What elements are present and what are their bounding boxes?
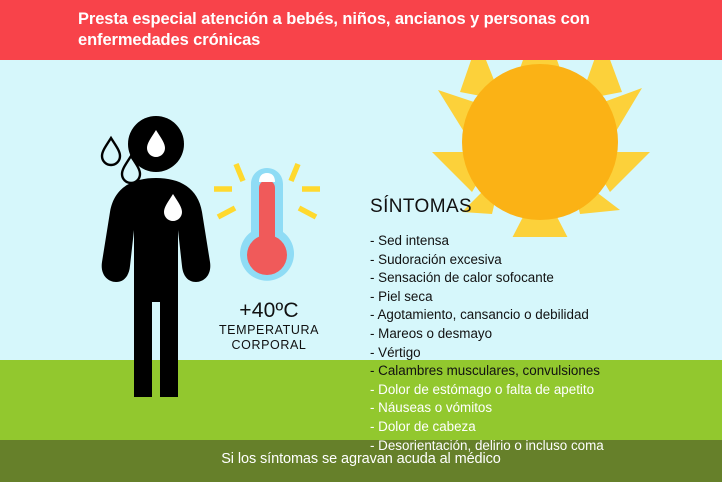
symptom-item: - Dolor de cabeza [370,418,690,437]
footer-message: Si los síntomas se agravan acuda al médi… [0,451,722,467]
symptom-item: - Calambres musculares, convulsiones [370,362,690,381]
temperature-caption-line2: CORPORAL [196,338,342,353]
sweating-person-icon [88,112,228,397]
symptoms-list: - Sed intensa- Sudoración excesiva- Sens… [370,232,690,455]
symptom-item: - Mareos o desmayo [370,325,690,344]
symptom-item: - Sudoración excesiva [370,251,690,270]
heat-stroke-infographic: +40ºC TEMPERATURA CORPORAL Presta especi… [0,0,722,482]
temperature-caption-line1: TEMPERATURA [196,323,342,338]
thermometer-icon [212,160,322,300]
symptoms-title: SÍNTOMAS [370,196,690,218]
symptom-item: - Dolor de estómago o falta de apetito [370,381,690,400]
symptom-item: - Náuseas o vómitos [370,399,690,418]
symptoms-section: SÍNTOMAS - Sed intensa- Sudoración exces… [370,196,690,455]
header-banner: Presta especial atención a bebés, niños,… [0,0,722,60]
symptom-item: - Vértigo [370,344,690,363]
symptom-item: - Piel seca [370,288,690,307]
symptom-item: - Sensación de calor sofocante [370,269,690,288]
temperature-value: +40ºC [196,299,342,323]
thermometer-labels: +40ºC TEMPERATURA CORPORAL [196,299,342,353]
symptom-item: - Agotamiento, cansancio o debilidad [370,306,690,325]
header-title: Presta especial atención a bebés, niños,… [78,9,682,51]
symptom-item: - Sed intensa [370,232,690,251]
